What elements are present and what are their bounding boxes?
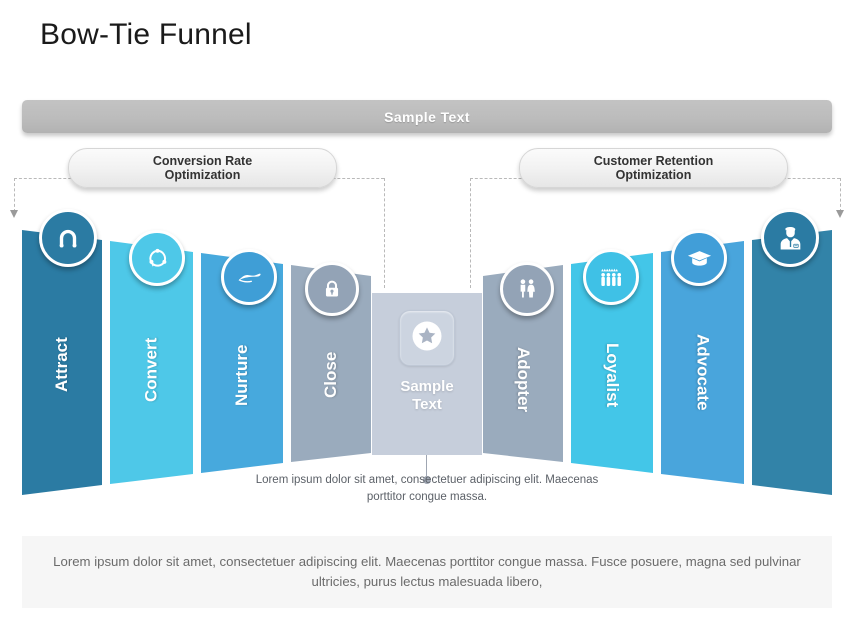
segment-shape-brand-ambassador[interactable]: [752, 230, 832, 495]
footer-text: Lorem ipsum dolor sit amet, consectetuer…: [42, 552, 812, 593]
pill-left-line2: Optimization: [165, 168, 241, 182]
two-people-icon: [515, 277, 539, 301]
caring-hand-icon: [236, 264, 263, 291]
graduation-cap-icon: [686, 245, 713, 272]
center-panel[interactable]: Sample Text: [372, 293, 482, 455]
segment-shape-attract[interactable]: [22, 230, 102, 495]
badge-adopter[interactable]: [500, 262, 554, 316]
slide-canvas: Bow-Tie Funnel Sample Text Conversion Ra…: [0, 0, 853, 640]
recycle-arrows-icon: [145, 246, 170, 271]
badge-nurture[interactable]: [221, 249, 277, 305]
badge-brand-ambassador[interactable]: [761, 209, 819, 267]
footer-panel: Lorem ipsum dolor sit amet, consectetuer…: [22, 536, 832, 608]
pill-conversion-rate-optimization[interactable]: Conversion Rate Optimization: [68, 148, 337, 188]
pill-right-line1: Customer Retention: [594, 154, 713, 168]
lock-icon: [321, 278, 343, 300]
pill-customer-retention-optimization[interactable]: Customer Retention Optimization: [519, 148, 788, 188]
magnet-icon: [55, 225, 81, 251]
header-banner[interactable]: Sample Text: [22, 100, 832, 133]
star-badge-icon: [410, 319, 444, 358]
badge-advocate[interactable]: [671, 230, 727, 286]
businessperson-icon: [777, 225, 804, 252]
pill-left-line1: Conversion Rate: [153, 154, 252, 168]
center-caption: Lorem ipsum dolor sit amet, consectetuer…: [253, 472, 601, 505]
center-text-line2: Text: [412, 396, 442, 413]
header-banner-label: Sample Text: [384, 109, 470, 125]
center-icon-box: [399, 310, 455, 366]
badge-loyalist[interactable]: [583, 249, 639, 305]
badge-close[interactable]: [305, 262, 359, 316]
center-panel-text: Sample Text: [400, 378, 453, 413]
people-group-icon: [598, 264, 625, 291]
badge-attract[interactable]: [39, 209, 97, 267]
center-text-line1: Sample: [400, 378, 453, 395]
badge-convert[interactable]: [129, 230, 185, 286]
page-title: Bow-Tie Funnel: [40, 18, 252, 52]
pill-right-line2: Optimization: [616, 168, 692, 182]
